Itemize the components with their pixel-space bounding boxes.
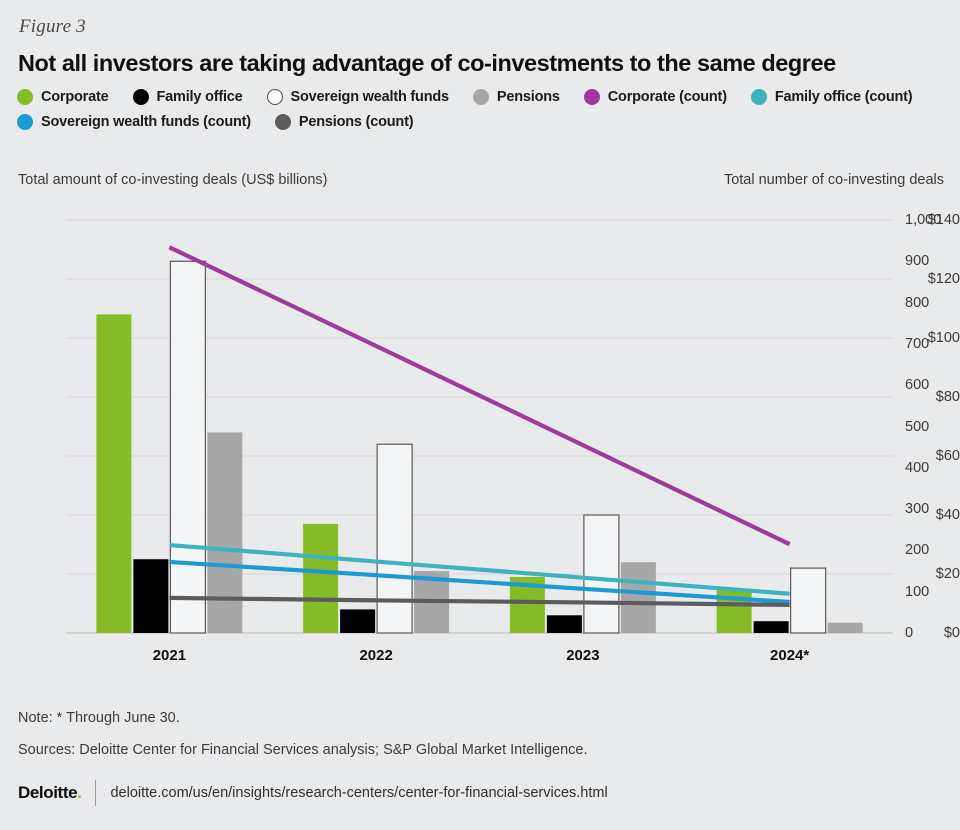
x-axis-tick: 2022 — [359, 647, 392, 664]
legend-label: Pensions (count) — [299, 114, 413, 130]
legend-swatch-icon — [133, 89, 149, 105]
y-axis-tick-right: 500 — [905, 419, 959, 435]
legend-swatch-icon — [17, 89, 33, 105]
y-axis-tick-right: 800 — [905, 295, 959, 311]
bar[interactable] — [133, 559, 168, 633]
bar[interactable] — [621, 562, 656, 633]
legend-item[interactable]: Pensions (count) — [275, 114, 413, 130]
legend-label: Family office (count) — [775, 89, 913, 105]
bar[interactable] — [96, 314, 131, 633]
y-axis-tick-right: 600 — [905, 377, 959, 393]
divider — [95, 780, 96, 806]
y-axis-tick-right: 100 — [905, 584, 959, 600]
y-axis-tick-right: 300 — [905, 501, 959, 517]
legend-label: Sovereign wealth funds (count) — [41, 114, 251, 130]
bar[interactable] — [207, 432, 242, 633]
legend-label: Corporate (count) — [608, 89, 727, 105]
bar[interactable] — [340, 609, 375, 633]
bar[interactable] — [754, 621, 789, 633]
y-axis-tick-right: 700 — [905, 336, 959, 352]
footer-url[interactable]: deloitte.com/us/en/insights/research-cen… — [110, 785, 607, 801]
x-axis-tick: 2021 — [153, 647, 186, 664]
trend-line[interactable] — [169, 598, 789, 605]
footer-brand-row: Deloitte. deloitte.com/us/en/insights/re… — [18, 780, 608, 806]
y-axis-tick-left: $20 — [906, 566, 960, 582]
legend-swatch-icon — [17, 114, 33, 130]
left-axis-caption: Total amount of co-investing deals (US$ … — [18, 172, 327, 188]
chart-plot-area: $0$20$40$60$80$100$120$14001002003004005… — [0, 200, 960, 670]
bar[interactable] — [717, 589, 752, 633]
legend-item[interactable]: Pensions — [473, 89, 560, 105]
trend-line[interactable] — [169, 247, 789, 544]
bar[interactable] — [584, 515, 619, 633]
legend-label: Sovereign wealth funds — [291, 89, 449, 105]
legend-item[interactable]: Family office (count) — [751, 89, 913, 105]
legend-swatch-icon — [267, 89, 283, 105]
legend-item[interactable]: Family office — [133, 89, 243, 105]
legend-item[interactable]: Sovereign wealth funds (count) — [17, 114, 251, 130]
legend-label: Pensions — [497, 89, 560, 105]
brand-name: Deloitte — [18, 783, 77, 802]
y-axis-tick-right: 400 — [905, 460, 959, 476]
bar[interactable] — [791, 568, 826, 633]
legend-item[interactable]: Corporate (count) — [584, 89, 727, 105]
legend-swatch-icon — [275, 114, 291, 130]
legend-swatch-icon — [751, 89, 767, 105]
legend-swatch-icon — [584, 89, 600, 105]
x-axis-tick: 2024* — [770, 647, 809, 664]
bar[interactable] — [828, 623, 863, 633]
legend-swatch-icon — [473, 89, 489, 105]
bar[interactable] — [377, 444, 412, 633]
right-axis-caption: Total number of co-investing deals — [724, 172, 944, 188]
legend-label: Corporate — [41, 89, 109, 105]
chart-legend: CorporateFamily officeSovereign wealth f… — [17, 89, 947, 130]
legend-item[interactable]: Sovereign wealth funds — [267, 89, 449, 105]
brand-dot: . — [77, 783, 81, 802]
x-axis-tick: 2023 — [566, 647, 599, 664]
page-title: Not all investors are taking advantage o… — [18, 50, 948, 77]
y-axis-tick-right: 900 — [905, 253, 959, 269]
bar[interactable] — [547, 615, 582, 633]
chart-note: Note: * Through June 30. — [18, 710, 180, 726]
chart-sources: Sources: Deloitte Center for Financial S… — [18, 742, 588, 758]
bar[interactable] — [303, 524, 338, 633]
chart-svg — [0, 200, 960, 670]
y-axis-tick-left: $120 — [906, 271, 960, 287]
y-axis-tick-right: 1,000 — [905, 212, 959, 228]
deloitte-logo: Deloitte. — [18, 783, 81, 803]
y-axis-tick-right: 0 — [905, 625, 959, 641]
y-axis-tick-right: 200 — [905, 542, 959, 558]
bar[interactable] — [170, 261, 205, 633]
legend-item[interactable]: Corporate — [17, 89, 109, 105]
legend-label: Family office — [157, 89, 243, 105]
figure-label: Figure 3 — [19, 16, 86, 38]
